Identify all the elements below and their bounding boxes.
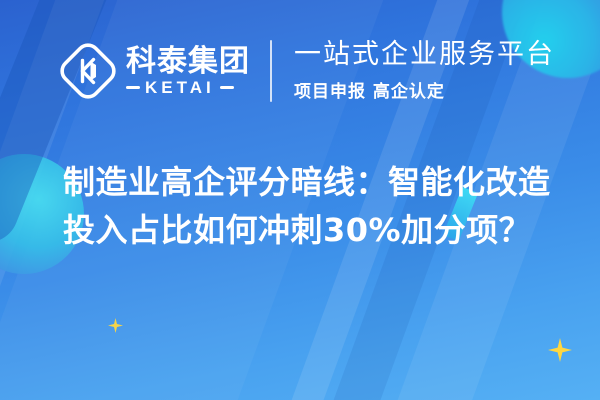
sub-tagline: 项目申报 高企认定 xyxy=(294,77,555,102)
brand-name-cn: 科泰集团 xyxy=(126,46,250,78)
title-line-1: 制造业高企评分暗线：智能化改造 xyxy=(63,158,563,206)
four-point-star-icon xyxy=(548,338,572,362)
banner-header: 科泰集团 KETAI 一站式企业服务平台 项目申报 高企认定 xyxy=(0,30,600,112)
brand-name-en-row: KETAI xyxy=(126,79,250,96)
logo-dash-left xyxy=(126,86,140,89)
brand-logo-text: 科泰集团 KETAI xyxy=(126,46,250,97)
header-text-block: 一站式企业服务平台 项目申报 高企认定 xyxy=(294,40,555,102)
brand-name-en: KETAI xyxy=(145,79,215,96)
logo-dash-right xyxy=(220,86,234,89)
vertical-divider xyxy=(270,40,272,102)
ketai-diamond-kd-icon xyxy=(60,43,116,99)
promo-banner: 科泰集团 KETAI 一站式企业服务平台 项目申报 高企认定 制造业高企评分暗线… xyxy=(0,0,600,400)
tagline: 一站式企业服务平台 xyxy=(294,40,555,70)
brand-logo[interactable]: 科泰集团 KETAI xyxy=(60,43,250,99)
page-title: 制造业高企评分暗线：智能化改造 投入占比如何冲刺30%加分项？ xyxy=(63,158,563,254)
title-line-2: 投入占比如何冲刺30%加分项？ xyxy=(63,206,563,254)
four-point-star-icon xyxy=(108,318,123,333)
